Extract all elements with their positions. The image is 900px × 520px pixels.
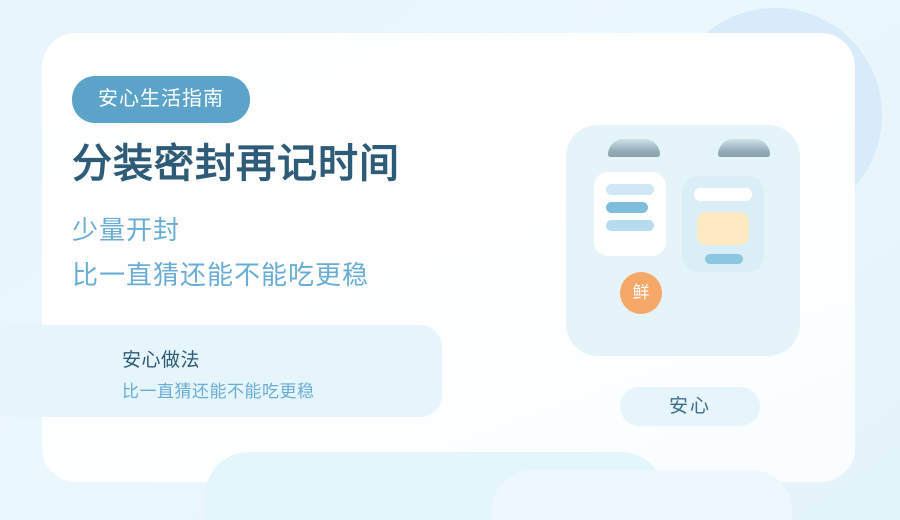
container-lid-left-icon xyxy=(608,139,660,157)
headline-block: 安心生活指南 分装密封再记时间 少量开封 比一直猜还能不能吃更稳 xyxy=(72,76,542,298)
container-lid-right-icon xyxy=(718,139,770,157)
category-badge[interactable]: 安心生活指南 xyxy=(72,76,250,123)
tip-card-description: 比一直猜还能不能吃更稳 xyxy=(122,380,452,405)
background-bottom-shape-secondary xyxy=(492,470,792,520)
label-line-2 xyxy=(606,202,648,213)
subtitle-line-2: 比一直猜还能不能吃更稳 xyxy=(72,253,542,298)
subtitle-line-1: 少量开封 xyxy=(72,208,542,253)
subtitle-group: 少量开封 比一直猜还能不能吃更稳 xyxy=(72,208,542,297)
tip-card-title: 安心做法 xyxy=(122,347,452,375)
label-line-3 xyxy=(606,220,654,231)
food-content-block-icon xyxy=(697,212,749,245)
container-label-bar xyxy=(694,188,752,201)
poster-canvas: 安心生活指南 分装密封再记时间 少量开封 比一直猜还能不能吃更稳 安心做法 比一… xyxy=(0,0,900,520)
container-base-bar xyxy=(705,254,743,264)
safe-label-pill[interactable]: 安心 xyxy=(620,387,760,426)
tip-card-content: 安心做法 比一直猜还能不能吃更稳 xyxy=(122,347,452,404)
freshness-badge: 鲜 xyxy=(620,272,662,314)
label-line-1 xyxy=(606,184,654,195)
page-title: 分装密封再记时间 xyxy=(72,141,542,188)
